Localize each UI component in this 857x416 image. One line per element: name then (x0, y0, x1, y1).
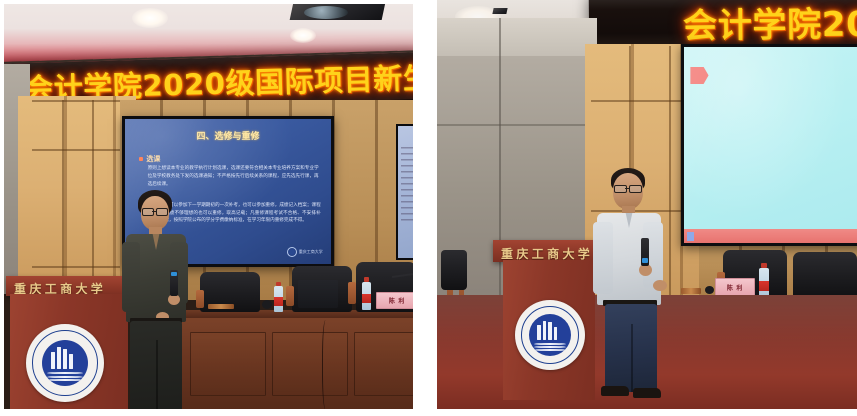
gavel (208, 304, 234, 309)
speaker-leg-split (631, 324, 633, 392)
university-emblem (26, 324, 104, 402)
emblem-bar-icon (51, 352, 55, 369)
nameplate: 陈 利 (376, 292, 413, 309)
bottle-label (759, 281, 769, 291)
speaker-shoe (601, 386, 629, 396)
slide-content-right (684, 47, 857, 243)
slide-paragraph-1: 原则上想读本专业的教学执行计划选课，选课还要符合相关本专业培养方案和专业学位及学… (148, 165, 319, 189)
emblem-wave-icon (534, 346, 566, 348)
slide-university-logo: 重庆工商大学 (287, 247, 323, 257)
slide-footer-chip (687, 232, 694, 241)
table-panel (354, 332, 413, 396)
speaker-shoe (633, 388, 661, 398)
speaker-leg-split (156, 340, 158, 409)
bottle-cap-icon (276, 282, 281, 287)
emblem-wave-icon (47, 372, 83, 374)
desk-item (681, 288, 701, 294)
lecture-hall-photo-left: 会计学院2020级国际项目新生大 四、选修与重修 选课 原则上想读本专业的教学执… (4, 4, 413, 409)
water-bottle (362, 282, 371, 310)
nameplate-text: 陈 利 (727, 283, 743, 292)
wall-upper-right (437, 18, 597, 60)
speaker-left (112, 190, 202, 409)
emblem-bar-icon (543, 321, 546, 340)
ceiling-downlight-icon (290, 28, 316, 43)
emblem-core (529, 314, 571, 356)
handheld-microphone (170, 270, 178, 296)
slide-arrow-shape (690, 67, 708, 85)
speaker-hand-left (653, 280, 667, 291)
emblem-wave-icon (47, 379, 83, 381)
wall-panel-line (62, 100, 64, 280)
ceiling-downlight-icon (132, 8, 168, 28)
slide-bullet: 选课 (139, 154, 160, 164)
wall-panel-line (32, 149, 132, 151)
bottle-label (274, 297, 283, 306)
emblem-core (42, 340, 89, 387)
speaker-arm-left (593, 222, 613, 294)
wall-panel-line (92, 100, 94, 280)
chair-armrest (286, 286, 294, 306)
side-display-content (398, 126, 413, 258)
glasses-icon (156, 208, 168, 216)
water-bottle (274, 286, 283, 312)
emblem-wave-icon (534, 349, 566, 351)
emblem-bar-icon (548, 322, 551, 340)
glasses-icon (629, 185, 642, 193)
university-emblem (515, 300, 585, 370)
slide-title: 四、选修与重修 (125, 129, 331, 142)
slide-bullet-label: 选课 (146, 154, 160, 164)
emblem-wave-icon (47, 376, 83, 378)
chair-armrest (348, 282, 356, 304)
bullet-dot-icon (139, 157, 143, 161)
glasses-icon (614, 185, 627, 193)
bottle-cap-icon (761, 263, 767, 268)
slide-footer-bar (684, 229, 857, 243)
slide-logo-text: 重庆工商大学 (299, 249, 323, 255)
desk-microphone (705, 286, 714, 294)
nameplate: 陈 利 (715, 278, 755, 296)
table-cable (322, 320, 331, 409)
bottle-cap-icon (364, 277, 369, 282)
screenshot-root: 会计学院2020级国际项目新生大 四、选修与重修 选课 原则上想读本专业的教学执… (0, 0, 857, 416)
bottle-label (362, 294, 371, 304)
handheld-microphone (641, 238, 649, 266)
conference-chair (793, 252, 857, 298)
emblem-bar-icon (537, 325, 540, 340)
emblem-bar-icon (63, 349, 67, 369)
microphone-indicator-icon (171, 272, 177, 276)
screen-glare (684, 47, 857, 243)
led-banner-right: 会计学院2020级 (589, 0, 857, 49)
emblem-bar-icon (69, 354, 73, 369)
wall-seam (437, 124, 589, 126)
laptop (298, 280, 338, 308)
nameplate-text: 陈 利 (389, 296, 405, 305)
water-bottle (759, 268, 769, 298)
microphone-indicator-icon (642, 258, 648, 263)
side-display-screen-left (396, 124, 413, 260)
led-banner-text: 会计学院2020级 (683, 0, 857, 47)
glasses-icon (142, 208, 154, 216)
university-emblem-icon (287, 247, 297, 257)
wall-panel-line (32, 100, 132, 102)
glasses-bridge-icon (625, 188, 629, 189)
desk-microphone (262, 300, 272, 309)
projector-lens-icon (304, 6, 348, 19)
speaker-right (585, 168, 681, 400)
glasses-bridge-icon (152, 211, 156, 212)
emblem-bar-icon (554, 327, 557, 340)
side-chair (441, 250, 467, 290)
projection-screen-right (681, 44, 857, 246)
table-panel (272, 332, 348, 396)
lecture-hall-photo-right: 会计学院2020级 (437, 0, 857, 409)
emblem-bar-icon (57, 347, 61, 369)
emblem-wave-icon (534, 343, 566, 345)
speaker-arm-left (122, 242, 140, 312)
ceiling-fixture (492, 8, 507, 14)
